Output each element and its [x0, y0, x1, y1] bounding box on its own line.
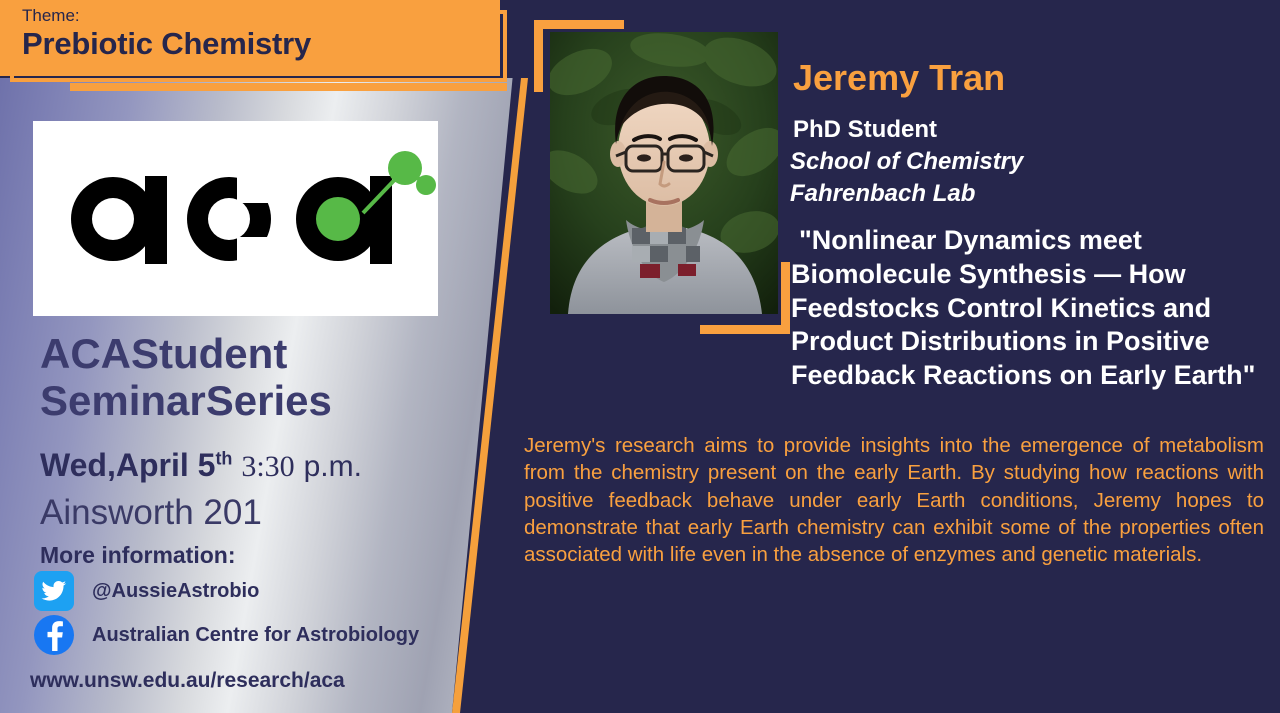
- aca-logo-graphic: [33, 121, 438, 316]
- website-url[interactable]: www.unsw.edu.au/research/aca: [30, 669, 345, 693]
- facebook-glyph: [43, 619, 65, 651]
- talk-title-line5: Feedback Reactions on Early Earth": [791, 359, 1261, 393]
- talk-title-line1: "Nonlinear Dynamics meet: [791, 224, 1261, 258]
- event-room: Ainsworth 201: [40, 493, 262, 533]
- seminar-poster: Theme: Prebiotic Chemistry: [0, 0, 1280, 713]
- speaker-lab: Fahrenbach Lab: [790, 180, 975, 208]
- seminar-series-title: ACAStudent SeminarSeries: [40, 330, 460, 425]
- twitter-contact-row[interactable]: @AussieAstrobio: [34, 571, 259, 611]
- talk-title: "Nonlinear Dynamics meet Biomolecule Syn…: [791, 224, 1261, 393]
- theme-title: Prebiotic Chemistry: [22, 26, 311, 62]
- facebook-contact-row[interactable]: Australian Centre for Astrobiology: [34, 615, 419, 655]
- speaker-role: PhD Student: [793, 116, 937, 144]
- event-datetime: Wed,April 5th 3:30 p.m.: [40, 447, 362, 484]
- twitter-glyph: [41, 580, 67, 602]
- facebook-page-name[interactable]: Australian Centre for Astrobiology: [92, 624, 419, 647]
- twitter-handle[interactable]: @AussieAstrobio: [92, 580, 259, 603]
- theme-underline-bar: [70, 83, 507, 91]
- facebook-f-icon[interactable]: [34, 615, 74, 655]
- talk-title-line3: Feedstocks Control Kinetics and: [791, 292, 1261, 326]
- seminar-title-line1: ACAStudent: [40, 330, 460, 377]
- twitter-bird-icon[interactable]: [34, 571, 74, 611]
- speaker-photo: [550, 32, 778, 314]
- theme-label: Theme:: [22, 6, 80, 26]
- event-date-suffix: th: [215, 448, 232, 468]
- speaker-name: Jeremy Tran: [793, 57, 1005, 99]
- event-date: Wed,April 5: [40, 447, 215, 483]
- theme-banner: Theme: Prebiotic Chemistry: [0, 0, 500, 76]
- event-ampm: p.m.: [304, 450, 362, 483]
- speaker-portrait-graphic: [550, 32, 778, 314]
- aca-logo: [33, 121, 438, 316]
- talk-abstract: Jeremy's research aims to provide insigh…: [524, 432, 1264, 568]
- seminar-title-line2: SeminarSeries: [40, 377, 460, 424]
- event-time: 3:30: [241, 450, 294, 483]
- talk-title-line4: Product Distributions in Positive: [791, 325, 1261, 359]
- more-information-label: More information:: [40, 542, 236, 569]
- talk-title-line2: Biomolecule Synthesis — How: [791, 258, 1261, 292]
- speaker-school: School of Chemistry: [790, 148, 1023, 176]
